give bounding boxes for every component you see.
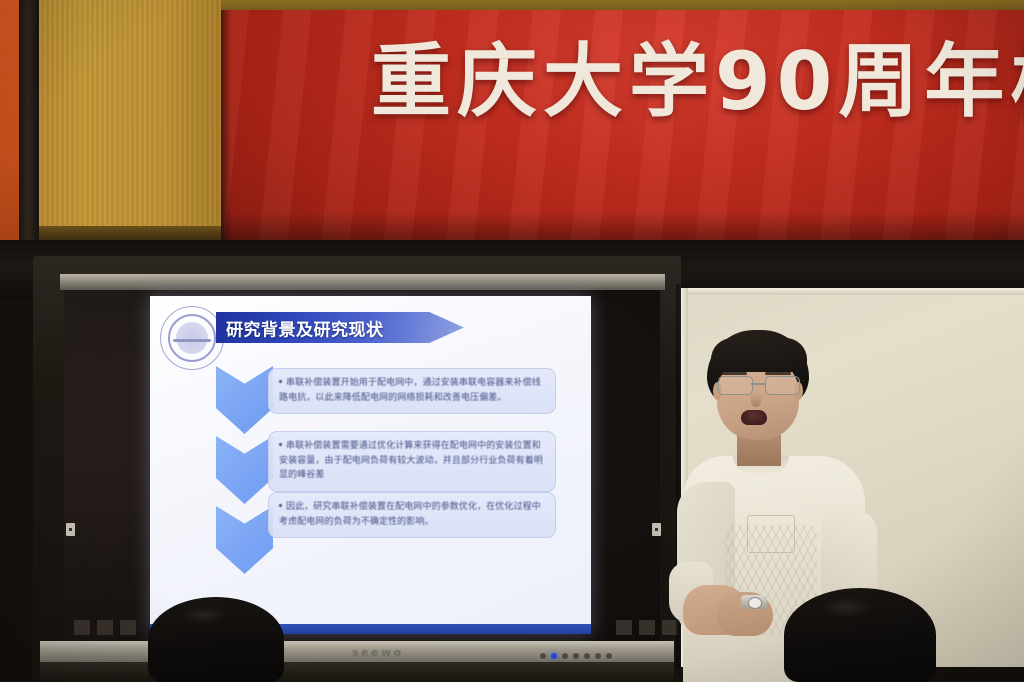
presenter-mouth — [741, 410, 767, 425]
chevron-arrow-group — [216, 366, 273, 576]
whiteboard-frame-top — [681, 288, 1024, 295]
slide-bullet-text-2: 串联补偿装置需要通过优化计算来获得在配电网中的安装位置和安装容量，由于配电网负荷… — [279, 441, 543, 480]
presenter-hair-fringe — [711, 338, 807, 372]
banner-text: 重庆大学90周年校庆系列活动 — [371, 42, 1024, 122]
bullet-dot-icon-1 — [279, 380, 282, 383]
display-top-trim — [60, 274, 665, 290]
slide-title-text: 研究背景及研究现状 — [226, 315, 384, 340]
display-brand-label: seewo — [352, 646, 404, 659]
presenter-eyebrow-right — [765, 372, 791, 375]
power-led-icon — [551, 653, 557, 659]
slide-bullet-box-3: 因此，研究串联补偿装置在配电网中的参数优化，在优化过程中考虑配电网的负荷为不确定… — [268, 492, 556, 538]
display-button-4[interactable] — [595, 653, 601, 659]
display-control-buttons[interactable] — [540, 653, 612, 659]
display-button-3[interactable] — [584, 653, 590, 659]
slide-bullet-text-1: 串联补偿装置开始用于配电网中，通过安装串联电容器来补偿线路电抗，以此来降低配电网… — [279, 378, 541, 403]
slide-bullet-box-2: 串联补偿装置需要通过优化计算来获得在配电网中的安装位置和安装容量，由于配电网负荷… — [268, 431, 556, 492]
slide-bullet-box-1: 串联补偿装置开始用于配电网中，通过安装串联电容器来补偿线路电抗，以此来降低配电网… — [268, 368, 556, 414]
bullet-dot-icon-2 — [279, 443, 282, 446]
celebration-banner: 重庆大学90周年校庆系列活动 — [221, 10, 1024, 246]
presenter-eyebrow-left — [721, 372, 747, 375]
university-logo-icon — [160, 306, 224, 370]
display-button-1[interactable] — [562, 653, 568, 659]
audience-head-left — [148, 597, 284, 682]
wristwatch-icon — [741, 595, 767, 609]
presenter-nose — [751, 393, 761, 407]
slide-title-banner: 研究背景及研究现状 — [216, 312, 464, 343]
chevron-down-icon-2 — [216, 436, 273, 504]
chevron-down-icon-3 — [216, 506, 273, 574]
audience-head-right — [784, 588, 936, 682]
wall-orange-strip — [0, 0, 19, 260]
glasses-icon — [715, 376, 801, 394]
display-speaker-grille-left — [74, 620, 136, 635]
chevron-down-icon-1 — [216, 366, 273, 434]
banner-left-shadow — [221, 10, 231, 246]
slide-bullet-text-3: 因此，研究串联补偿装置在配电网中的参数优化，在优化过程中考虑配电网的负荷为不确定… — [279, 502, 541, 527]
lecture-hall-photo: 重庆大学90周年校庆系列活动 研究背景及研究现状 串联补偿装置开始用于配电网中 — [0, 0, 1024, 682]
display-button-2[interactable] — [573, 653, 579, 659]
wall-dark-post — [19, 0, 39, 262]
ir-sensor-left-icon — [66, 523, 75, 536]
power-dot-icon[interactable] — [540, 653, 546, 659]
presenter-shirt-pocket — [747, 515, 795, 553]
bullet-dot-icon-3 — [279, 504, 282, 507]
display-base — [40, 662, 674, 682]
presentation-slide[interactable]: 研究背景及研究现状 串联补偿装置开始用于配电网中，通过安装串联电容器来补偿线路电… — [150, 296, 591, 634]
display-button-5[interactable] — [606, 653, 612, 659]
wood-wall-panel — [39, 0, 221, 235]
